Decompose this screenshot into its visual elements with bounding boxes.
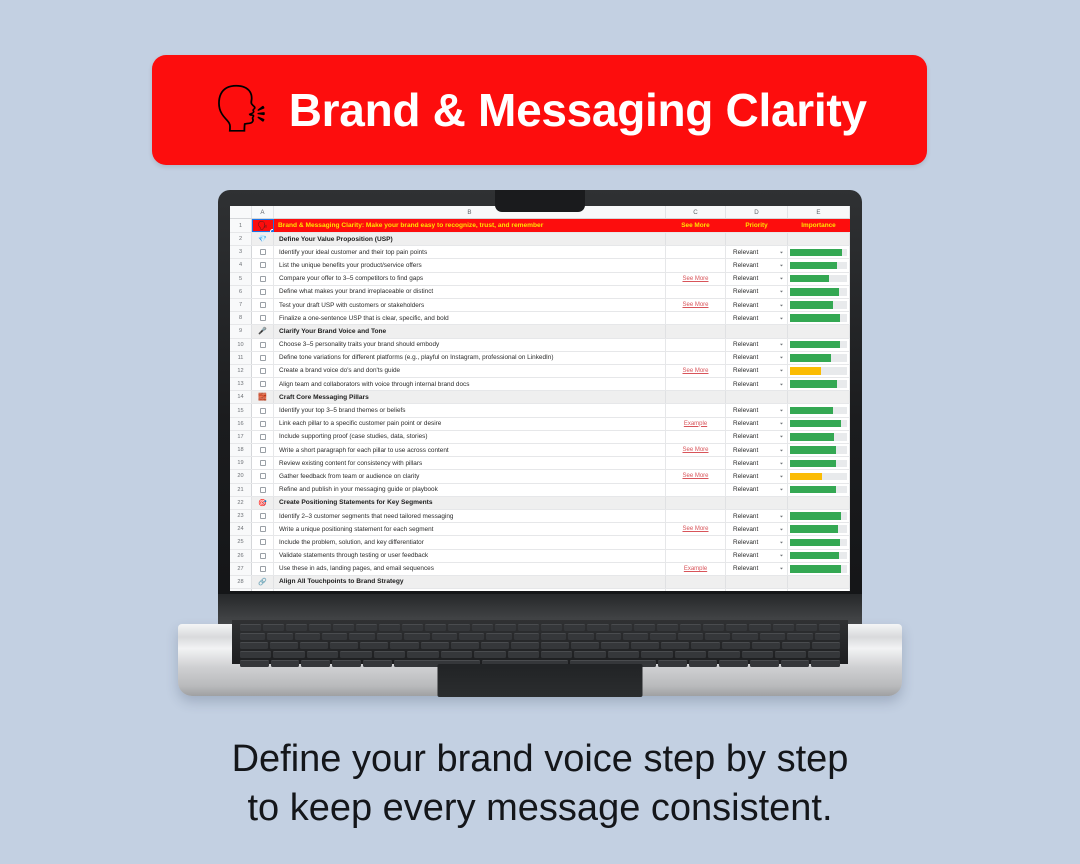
- priority-dropdown[interactable]: Relevant▾: [726, 286, 788, 298]
- row-number[interactable]: 13: [230, 378, 252, 390]
- row-number[interactable]: 28: [230, 576, 252, 588]
- checkbox-icon[interactable]: [260, 473, 266, 479]
- priority-dropdown[interactable]: Relevant▾: [726, 563, 788, 575]
- checkbox-icon[interactable]: [260, 513, 266, 519]
- priority-dropdown[interactable]: Relevant▾: [726, 589, 788, 591]
- row-number[interactable]: 23: [230, 510, 252, 522]
- row-number[interactable]: 1: [230, 219, 252, 232]
- priority-dropdown[interactable]: Relevant▾: [726, 444, 788, 456]
- importance-bar-fill: [790, 249, 842, 257]
- task-checkbox[interactable]: [252, 286, 274, 298]
- importance-bar-fill: [790, 433, 834, 441]
- task-label: Include the problem, solution, and key d…: [274, 536, 666, 548]
- resource-link[interactable]: See More: [682, 447, 708, 453]
- keyboard-key: [571, 642, 599, 649]
- priority-value: Relevant: [733, 513, 758, 520]
- chevron-down-icon[interactable]: ▾: [780, 369, 783, 373]
- checkbox-icon[interactable]: [260, 276, 266, 282]
- chevron-down-icon[interactable]: ▾: [780, 342, 783, 346]
- trackpad: [438, 664, 643, 697]
- task-checkbox[interactable]: [252, 246, 274, 258]
- table-row: 26Validate statements through testing or…: [230, 550, 850, 563]
- task-checkbox[interactable]: [252, 312, 274, 324]
- importance-cell[interactable]: [788, 286, 850, 298]
- resource-link-cell[interactable]: [666, 286, 726, 298]
- importance-cell[interactable]: [788, 339, 850, 351]
- checkbox-icon[interactable]: [260, 368, 266, 374]
- priority-value: Relevant: [733, 473, 758, 480]
- keyboard-key: [752, 642, 780, 649]
- importance-cell[interactable]: [788, 273, 850, 285]
- resource-link-cell[interactable]: See More: [666, 444, 726, 456]
- empty-cell[interactable]: [666, 497, 726, 509]
- task-checkbox[interactable]: [252, 536, 274, 548]
- priority-dropdown[interactable]: Relevant▾: [726, 431, 788, 443]
- priority-value: Relevant: [733, 354, 758, 361]
- chevron-down-icon[interactable]: ▾: [780, 553, 783, 557]
- resource-link-cell[interactable]: See More: [666, 299, 726, 311]
- priority-value: Relevant: [733, 341, 758, 348]
- keyboard-key: [808, 651, 839, 658]
- task-checkbox[interactable]: [252, 470, 274, 482]
- column-header-d[interactable]: D: [726, 206, 788, 218]
- task-label: Create a brand voice do's and don'ts gui…: [274, 365, 666, 377]
- section-row: 28🔗Align All Touchpoints to Brand Strate…: [230, 576, 850, 589]
- checkbox-icon[interactable]: [260, 553, 266, 559]
- keyboard-key: [650, 633, 675, 640]
- chevron-down-icon[interactable]: ▾: [780, 540, 783, 544]
- speaking-head-icon: 🗣: [257, 221, 267, 230]
- resource-link-cell[interactable]: [666, 259, 726, 271]
- keyboard-row: [240, 642, 840, 649]
- laptop-lid: A B C D E 1 🗣 Brand & Messaging Clarity:…: [218, 190, 862, 610]
- keyboard-key: [518, 624, 539, 631]
- row-number[interactable]: 20: [230, 470, 252, 482]
- resource-link[interactable]: See More: [682, 473, 708, 479]
- task-label: Include supporting proof (case studies, …: [274, 431, 666, 443]
- row-number[interactable]: 21: [230, 484, 252, 496]
- keyboard-key: [309, 624, 330, 631]
- chevron-down-icon[interactable]: ▾: [780, 461, 783, 465]
- task-label: Identify your ideal customer and their t…: [274, 246, 666, 258]
- empty-cell[interactable]: [788, 391, 850, 403]
- task-label: Validate statements through testing or u…: [274, 550, 666, 562]
- table-row: 5Compare your offer to 3–5 competitors t…: [230, 273, 850, 286]
- keyboard-key: [322, 633, 347, 640]
- priority-dropdown[interactable]: Relevant▾: [726, 273, 788, 285]
- empty-cell[interactable]: [726, 391, 788, 403]
- chevron-down-icon[interactable]: ▾: [780, 356, 783, 360]
- importance-bar-fill: [790, 367, 821, 375]
- chevron-down-icon[interactable]: ▾: [780, 408, 783, 412]
- importance-cell[interactable]: [788, 589, 850, 591]
- task-checkbox[interactable]: [252, 378, 274, 390]
- task-checkbox[interactable]: [252, 365, 274, 377]
- importance-bar-fill: [790, 275, 829, 283]
- importance-cell[interactable]: [788, 470, 850, 482]
- row-number[interactable]: 3: [230, 246, 252, 258]
- checkbox-icon[interactable]: [260, 355, 266, 361]
- chevron-down-icon[interactable]: ▾: [780, 448, 783, 452]
- row-number[interactable]: 27: [230, 563, 252, 575]
- keyboard-key: [634, 624, 655, 631]
- priority-dropdown[interactable]: Relevant▾: [726, 312, 788, 324]
- resource-link-cell[interactable]: Example: [666, 418, 726, 430]
- keyboard-key: [631, 642, 659, 649]
- row-number[interactable]: 19: [230, 457, 252, 469]
- keyboard-key: [374, 651, 405, 658]
- empty-cell[interactable]: [726, 325, 788, 337]
- task-checkbox[interactable]: [252, 550, 274, 562]
- resource-link-cell[interactable]: [666, 352, 726, 364]
- task-label: Gather feedback from team or audience on…: [274, 470, 666, 482]
- spreadsheet-rows: 2💎Define Your Value Proposition (USP)3Id…: [230, 233, 850, 591]
- checkbox-icon[interactable]: [260, 342, 266, 348]
- resource-link-cell[interactable]: See More: [666, 470, 726, 482]
- priority-dropdown[interactable]: Relevant▾: [726, 457, 788, 469]
- chevron-down-icon[interactable]: ▾: [780, 263, 783, 267]
- keyboard-key: [240, 660, 269, 667]
- priority-dropdown[interactable]: Relevant▾: [726, 352, 788, 364]
- table-row: 6Define what makes your brand irreplacea…: [230, 286, 850, 299]
- priority-dropdown[interactable]: Relevant▾: [726, 510, 788, 522]
- empty-cell[interactable]: [788, 497, 850, 509]
- resource-link[interactable]: Example: [684, 421, 707, 427]
- keyboard-rows: [240, 624, 840, 669]
- importance-bar-track: [790, 460, 847, 468]
- priority-value: Relevant: [733, 302, 758, 309]
- keyboard-key: [611, 624, 632, 631]
- importance-cell[interactable]: [788, 404, 850, 416]
- task-label: Test your draft USP with customers or st…: [274, 299, 666, 311]
- keyboard-row: [240, 624, 840, 631]
- keyboard-key: [708, 651, 739, 658]
- resource-link[interactable]: See More: [682, 368, 708, 374]
- checkbox-icon[interactable]: [260, 539, 266, 545]
- checkbox-icon[interactable]: [260, 487, 266, 493]
- checkbox-icon[interactable]: [260, 566, 266, 572]
- importance-cell[interactable]: [788, 431, 850, 443]
- column-header-b[interactable]: B: [274, 206, 666, 218]
- keyboard-key: [421, 642, 449, 649]
- resource-link-cell[interactable]: [666, 246, 726, 258]
- keyboard-key: [379, 624, 400, 631]
- row-number[interactable]: 10: [230, 339, 252, 351]
- section-label: Define Your Value Proposition (USP): [274, 233, 666, 245]
- resource-link-cell[interactable]: See More: [666, 365, 726, 377]
- row-number[interactable]: 4: [230, 259, 252, 271]
- resource-link-cell[interactable]: See More: [666, 523, 726, 535]
- checkbox-icon[interactable]: [260, 434, 266, 440]
- chevron-down-icon[interactable]: ▾: [780, 567, 783, 571]
- importance-cell[interactable]: [788, 523, 850, 535]
- row-number[interactable]: 29: [230, 589, 252, 591]
- importance-cell[interactable]: [788, 457, 850, 469]
- table-row: 12Create a brand voice do's and don'ts g…: [230, 365, 850, 378]
- importance-cell[interactable]: [788, 259, 850, 271]
- resource-link-cell[interactable]: [666, 312, 726, 324]
- task-checkbox[interactable]: [252, 444, 274, 456]
- keyboard-key: [301, 660, 330, 667]
- task-checkbox[interactable]: [252, 589, 274, 591]
- resource-link-cell[interactable]: [666, 378, 726, 390]
- task-checkbox[interactable]: [252, 299, 274, 311]
- row-number[interactable]: 24: [230, 523, 252, 535]
- importance-cell[interactable]: [788, 510, 850, 522]
- chevron-down-icon[interactable]: ▾: [780, 250, 783, 254]
- priority-dropdown[interactable]: Relevant▾: [726, 536, 788, 548]
- row-number[interactable]: 8: [230, 312, 252, 324]
- selected-cell-a1[interactable]: 🗣: [252, 219, 274, 232]
- section-label: Clarify Your Brand Voice and Tone: [274, 325, 666, 337]
- importance-bar-fill: [790, 552, 839, 560]
- importance-cell[interactable]: [788, 444, 850, 456]
- importance-cell[interactable]: [788, 246, 850, 258]
- checkbox-icon[interactable]: [260, 315, 266, 321]
- keyboard-key: [332, 660, 361, 667]
- row-number[interactable]: 16: [230, 418, 252, 430]
- task-checkbox[interactable]: [252, 457, 274, 469]
- keyboard-key: [363, 660, 392, 667]
- chevron-down-icon[interactable]: ▾: [780, 435, 783, 439]
- chevron-down-icon[interactable]: ▾: [780, 514, 783, 518]
- task-checkbox[interactable]: [252, 523, 274, 535]
- empty-cell[interactable]: [666, 325, 726, 337]
- keyboard-key: [796, 624, 817, 631]
- importance-bar-fill: [790, 288, 839, 296]
- row-number[interactable]: 6: [230, 286, 252, 298]
- importance-bar-track: [790, 275, 847, 283]
- keyboard-key: [541, 633, 566, 640]
- checkbox-icon[interactable]: [260, 408, 266, 414]
- keyboard-key: [811, 660, 840, 667]
- row-number[interactable]: 9: [230, 325, 252, 337]
- importance-cell[interactable]: [788, 312, 850, 324]
- importance-cell[interactable]: [788, 550, 850, 562]
- keyboard-key: [680, 624, 701, 631]
- resource-link[interactable]: See More: [682, 302, 708, 308]
- keyboard-key: [812, 642, 840, 649]
- resource-link-cell[interactable]: [666, 510, 726, 522]
- chevron-down-icon[interactable]: ▾: [780, 527, 783, 531]
- importance-cell[interactable]: [788, 536, 850, 548]
- importance-cell[interactable]: [788, 418, 850, 430]
- importance-cell[interactable]: [788, 352, 850, 364]
- row-number[interactable]: 17: [230, 431, 252, 443]
- checkbox-icon[interactable]: [260, 302, 266, 308]
- keyboard-key: [481, 642, 509, 649]
- header-priority: Priority: [726, 219, 788, 232]
- priority-value: Relevant: [733, 460, 758, 467]
- resource-link[interactable]: See More: [682, 526, 708, 532]
- resource-link-cell[interactable]: [666, 484, 726, 496]
- chevron-down-icon[interactable]: ▾: [780, 316, 783, 320]
- priority-value: Relevant: [733, 565, 758, 572]
- column-header-c[interactable]: C: [666, 206, 726, 218]
- keyboard-key: [657, 624, 678, 631]
- importance-bar-track: [790, 473, 847, 481]
- chevron-down-icon[interactable]: ▾: [780, 422, 783, 426]
- task-checkbox[interactable]: [252, 510, 274, 522]
- keyboard-key: [407, 651, 438, 658]
- resource-link-cell[interactable]: [666, 339, 726, 351]
- priority-dropdown[interactable]: Relevant▾: [726, 404, 788, 416]
- importance-cell[interactable]: [788, 378, 850, 390]
- checkbox-icon[interactable]: [260, 526, 266, 532]
- row-number[interactable]: 22: [230, 497, 252, 509]
- task-checkbox[interactable]: [252, 259, 274, 271]
- row-number[interactable]: 14: [230, 391, 252, 403]
- importance-bar-track: [790, 539, 847, 547]
- priority-value: Relevant: [733, 275, 758, 282]
- keyboard-key: [300, 642, 328, 649]
- row-number[interactable]: 5: [230, 273, 252, 285]
- keyboard-key: [661, 642, 689, 649]
- row-number[interactable]: 25: [230, 536, 252, 548]
- resource-link-cell[interactable]: [666, 431, 726, 443]
- resource-link-cell[interactable]: [666, 457, 726, 469]
- priority-dropdown[interactable]: Relevant▾: [726, 365, 788, 377]
- importance-cell[interactable]: [788, 365, 850, 377]
- empty-cell[interactable]: [726, 233, 788, 245]
- resource-link[interactable]: See More: [682, 276, 708, 282]
- row-number[interactable]: 26: [230, 550, 252, 562]
- priority-value: Relevant: [733, 315, 758, 322]
- priority-dropdown[interactable]: Relevant▾: [726, 299, 788, 311]
- empty-cell[interactable]: [666, 576, 726, 588]
- importance-bar-track: [790, 433, 847, 441]
- empty-cell[interactable]: [726, 497, 788, 509]
- keyboard-key: [749, 624, 770, 631]
- column-header-a[interactable]: A: [252, 206, 274, 218]
- chevron-down-icon[interactable]: ▾: [780, 488, 783, 492]
- row-number[interactable]: 2: [230, 233, 252, 245]
- checkbox-icon[interactable]: [260, 289, 266, 295]
- sheet-title-text: Brand & Messaging Clarity: Make your bra…: [274, 219, 666, 232]
- chevron-down-icon[interactable]: ▾: [780, 277, 783, 281]
- table-row: 15Identify your top 3–5 brand themes or …: [230, 404, 850, 417]
- importance-bar-fill: [790, 565, 841, 573]
- importance-bar-track: [790, 420, 847, 428]
- task-checkbox[interactable]: [252, 273, 274, 285]
- priority-value: Relevant: [733, 433, 758, 440]
- section-row: 22🎯Create Positioning Statements for Key…: [230, 497, 850, 510]
- row-number[interactable]: 12: [230, 365, 252, 377]
- keyboard-key: [541, 624, 562, 631]
- resource-link-cell[interactable]: [666, 550, 726, 562]
- resource-link-cell[interactable]: Example: [666, 563, 726, 575]
- importance-cell[interactable]: [788, 563, 850, 575]
- task-checkbox[interactable]: [252, 339, 274, 351]
- chevron-down-icon[interactable]: ▾: [780, 474, 783, 478]
- empty-cell[interactable]: [666, 391, 726, 403]
- priority-dropdown[interactable]: Relevant▾: [726, 378, 788, 390]
- keyboard-key: [675, 651, 706, 658]
- keyboard-key: [333, 624, 354, 631]
- priority-dropdown[interactable]: Relevant▾: [726, 259, 788, 271]
- keyboard-key: [541, 651, 572, 658]
- empty-cell[interactable]: [788, 233, 850, 245]
- priority-dropdown[interactable]: Relevant▾: [726, 550, 788, 562]
- spreadsheet: A B C D E 1 🗣 Brand & Messaging Clarity:…: [230, 206, 850, 591]
- importance-bar-track: [790, 314, 847, 322]
- target-icon: 🎯: [252, 497, 274, 509]
- checkbox-icon[interactable]: [260, 381, 266, 387]
- checkbox-icon[interactable]: [260, 249, 266, 255]
- checkbox-icon[interactable]: [260, 447, 266, 453]
- resource-link-cell[interactable]: [666, 536, 726, 548]
- priority-value: Relevant: [733, 262, 758, 269]
- table-row: 25Include the problem, solution, and key…: [230, 536, 850, 549]
- corner-cell[interactable]: [230, 206, 252, 218]
- chevron-down-icon[interactable]: ▾: [780, 303, 783, 307]
- task-checkbox[interactable]: [252, 563, 274, 575]
- importance-bar-track: [790, 407, 847, 415]
- keyboard-key: [750, 660, 779, 667]
- priority-dropdown[interactable]: Relevant▾: [726, 246, 788, 258]
- table-row: 16Link each pillar to a specific custome…: [230, 418, 850, 431]
- empty-cell[interactable]: [788, 576, 850, 588]
- table-row: 3Identify your ideal customer and their …: [230, 246, 850, 259]
- row-number[interactable]: 18: [230, 444, 252, 456]
- keyboard-key: [486, 633, 511, 640]
- task-label: Use these in ads, landing pages, and ema…: [274, 563, 666, 575]
- keyboard-key: [295, 633, 320, 640]
- row-number[interactable]: 7: [230, 299, 252, 311]
- task-label: Align team and collaborators with voice …: [274, 378, 666, 390]
- importance-bar-track: [790, 446, 847, 454]
- priority-dropdown[interactable]: Relevant▾: [726, 339, 788, 351]
- priority-dropdown[interactable]: Relevant▾: [726, 418, 788, 430]
- task-checkbox[interactable]: [252, 484, 274, 496]
- checkbox-icon[interactable]: [260, 460, 266, 466]
- empty-cell[interactable]: [666, 233, 726, 245]
- task-checkbox[interactable]: [252, 431, 274, 443]
- priority-value: Relevant: [733, 249, 758, 256]
- keyboard-key: [340, 651, 371, 658]
- row-number[interactable]: 15: [230, 404, 252, 416]
- checkbox-icon[interactable]: [260, 262, 266, 268]
- importance-cell[interactable]: [788, 299, 850, 311]
- keyboard-key: [574, 651, 605, 658]
- task-checkbox[interactable]: [252, 352, 274, 364]
- resource-link-cell[interactable]: See More: [666, 589, 726, 591]
- empty-cell[interactable]: [726, 576, 788, 588]
- keyboard-key: [787, 633, 812, 640]
- resource-link[interactable]: Example: [684, 566, 707, 572]
- keyboard-key: [760, 633, 785, 640]
- resource-link-cell[interactable]: [666, 404, 726, 416]
- checkbox-icon[interactable]: [260, 421, 266, 427]
- keyboard-key: [564, 624, 585, 631]
- keyboard-key: [623, 633, 648, 640]
- keyboard-key: [508, 651, 539, 658]
- priority-dropdown[interactable]: Relevant▾: [726, 484, 788, 496]
- chevron-down-icon[interactable]: ▾: [780, 290, 783, 294]
- priority-dropdown[interactable]: Relevant▾: [726, 470, 788, 482]
- priority-dropdown[interactable]: Relevant▾: [726, 523, 788, 535]
- column-header-e[interactable]: E: [788, 206, 850, 218]
- table-row: 10Choose 3–5 personality traits your bra…: [230, 339, 850, 352]
- task-checkbox[interactable]: [252, 418, 274, 430]
- resource-link-cell[interactable]: See More: [666, 273, 726, 285]
- row-number[interactable]: 11: [230, 352, 252, 364]
- table-row: 24Write a unique positioning statement f…: [230, 523, 850, 536]
- empty-cell[interactable]: [788, 325, 850, 337]
- task-checkbox[interactable]: [252, 404, 274, 416]
- importance-cell[interactable]: [788, 484, 850, 496]
- chevron-down-icon[interactable]: ▾: [780, 382, 783, 386]
